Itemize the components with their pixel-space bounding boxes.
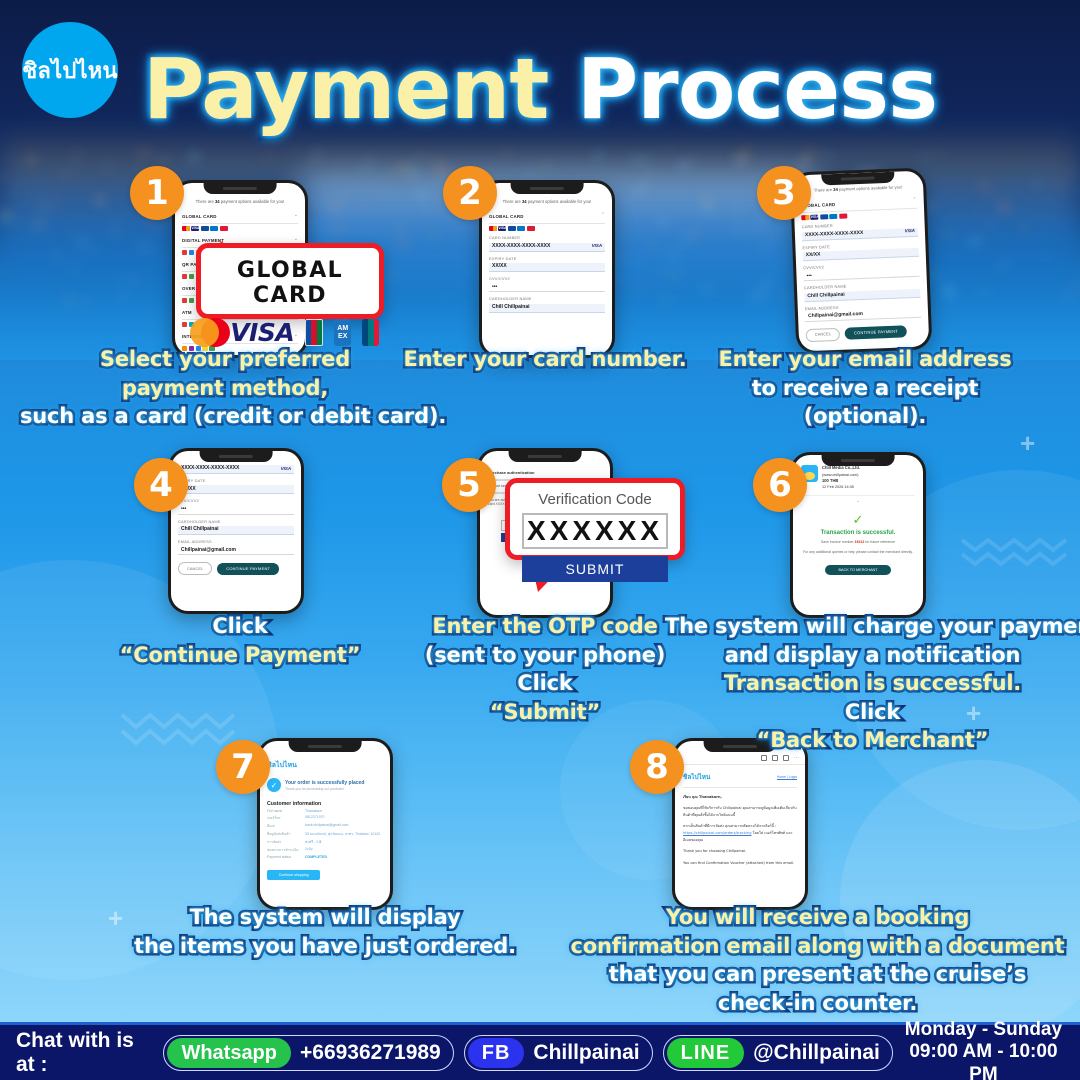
page-title: Payment Process	[0, 40, 1080, 138]
visa-badge-icon: VISA	[592, 243, 602, 250]
step-badge-7: 7	[216, 740, 270, 794]
success-note-help: For any additional queries or help pleas…	[801, 550, 915, 556]
email-paragraph-4: You can find Confirmation Voucher (attac…	[683, 860, 797, 867]
field-expiry-date[interactable]: EXPIRY DATE XX/XX	[802, 240, 919, 261]
step-badge-6: 6	[753, 458, 807, 512]
infographic-page: + + + ชิลไปไหน Payment Process There are…	[0, 0, 1080, 1080]
step-badge-4: 4	[134, 458, 188, 512]
back-to-merchant-button[interactable]: BACK TO MERCHANT	[825, 565, 891, 575]
field-cardholder-name[interactable]: CARDHOLDER NAME Chill Chillpainai	[804, 281, 921, 302]
callout-otp-input[interactable]: XXXXXX	[522, 513, 668, 549]
callout-otp: Verification Code XXXXXX SUBMIT	[505, 478, 685, 560]
step-caption-5-line3: Click “Submit”	[420, 669, 670, 726]
phone-notch	[511, 183, 584, 194]
decor-wave-right	[960, 530, 1070, 570]
card-form-step2: There are 34 payment options available f…	[482, 183, 612, 313]
chevron-up-icon: ⌃	[912, 197, 916, 205]
step-badge-5: 5	[442, 458, 496, 512]
customer-info-row: ช่องทางการชำระเงิน2c2p	[267, 847, 383, 853]
email-tracking-link[interactable]: https://chillpainai.com/orders/tracking	[683, 831, 752, 835]
step-caption-6-line4: Click “Back to Merchant”	[665, 698, 1080, 755]
field-card-number[interactable]: XXXX-XXXX-XXXX-XXXXVISA	[178, 465, 294, 474]
customer-info-row: การจัดส่งส่งฟรี - 0 ฿	[267, 839, 383, 845]
order-success-title: Your order is successfully placed	[285, 780, 364, 786]
phone-notch	[200, 451, 273, 462]
field-email-address[interactable]: EMAIL ADDRESS Chillpainai@gmail.com	[178, 539, 294, 555]
phone-step-8: ⋯ ชิลไปไหน Home | Login เรียน คุณ Thanak…	[672, 738, 808, 910]
success-check-icon: ✓	[801, 513, 915, 526]
title-word-payment: Payment	[143, 40, 549, 138]
whatsapp-number: +66936271989	[300, 1041, 441, 1065]
success-screen: Chill Media Co.,Ltd. (www.chillpainai.co…	[793, 455, 923, 575]
order-brand-logo: ชิลไปไหน	[267, 760, 383, 771]
card-form-section: GLOBAL CARD	[489, 214, 524, 221]
email-paragraph-1: ขอขอบคุณที่ใช้บริการกับ Chillpainai คุณส…	[683, 805, 797, 818]
phone-notch	[509, 451, 582, 462]
continue-payment-button[interactable]: CONTINUE PAYMENT	[845, 326, 907, 340]
amex-icon: AMEX	[334, 319, 351, 346]
whatsapp-label: Whatsapp	[167, 1038, 291, 1068]
payment-options-note: There are 34 payment options available f…	[182, 199, 298, 205]
step-caption-7: The system will display the items you ha…	[120, 903, 530, 960]
unionpay-icon	[362, 319, 379, 346]
transaction-datetime: 12 Feb 2026 14:35	[822, 485, 854, 489]
phone-step-7: ชิลไปไหน ✓ Your order is successfully pl…	[257, 738, 393, 910]
otp-line-1: Purchase authentication	[488, 470, 602, 475]
card-form-step3: There are 34 payment options available f…	[793, 171, 929, 343]
business-hours-time: 09:00 AM - 10:00 PM	[903, 1041, 1064, 1080]
brand-icons-global: VISA	[182, 226, 298, 231]
title-word-process: Process	[577, 40, 937, 138]
visa-icon: VISA	[230, 318, 294, 347]
customer-info-row: เบอร์โทร0812371970	[267, 815, 383, 821]
field-cvv[interactable]: CVV/CVV2 •••	[489, 276, 605, 292]
business-hours: Monday - Sunday 09:00 AM - 10:00 PM	[903, 1019, 1064, 1080]
facebook-handle: Chillpainai	[533, 1041, 639, 1065]
step-caption-5: Enter the OTP code (sent to your phone) …	[420, 612, 670, 726]
customer-info-heading: Customer information	[267, 801, 383, 807]
step-badge-1: 1	[130, 166, 184, 220]
customer-info-row: Full nameThanakarn	[267, 809, 383, 813]
footer-lead-text: Chat with is at :	[16, 1029, 153, 1077]
email-greeting: เรียน คุณ Thanakarn,	[683, 795, 722, 799]
field-cardholder-name[interactable]: CARDHOLDER NAME Chill Chillpainai	[489, 296, 605, 312]
business-hours-days: Monday - Sunday	[903, 1019, 1064, 1041]
merchant-site: (www.chillpainai.com)	[822, 473, 859, 477]
customer-info-row: Payment statusCOMPLETED	[267, 855, 383, 859]
email-screen: ⋯ ชิลไปไหน Home | Login เรียน คุณ Thanak…	[675, 752, 805, 879]
archive-icon[interactable]	[761, 755, 767, 761]
order-success-subtitle: Thank you for purchasing our products!	[285, 787, 364, 791]
invoice-number: 19212	[855, 540, 865, 544]
step-caption-4-line: Click “Continue Payment”	[50, 612, 430, 669]
facebook-contact[interactable]: FB Chillpainai	[464, 1035, 653, 1071]
delete-icon[interactable]	[772, 755, 778, 761]
phone-step-2: There are 34 payment options available f…	[479, 180, 615, 358]
field-cvv[interactable]: CVV/CVV2 •••	[178, 498, 294, 514]
cancel-button[interactable]: CANCEL	[178, 562, 212, 575]
cancel-button[interactable]: CANCEL	[806, 328, 841, 342]
phone-step-3: There are 34 payment options available f…	[790, 167, 933, 354]
field-cvv[interactable]: CVV/CVV2 •••	[803, 261, 920, 282]
mastercard-icon	[201, 318, 219, 347]
callout-title: GLOBAL CARD	[201, 258, 379, 308]
callout-verification-label: Verification Code	[510, 491, 680, 508]
step-caption-2: Enter your card number.	[395, 345, 695, 374]
step-badge-8: 8	[630, 740, 684, 794]
payment-options-count: 34	[215, 199, 220, 204]
decor-wave-left	[120, 705, 240, 749]
email-paragraph-2: หากเป็นสินค้าที่มีการจัดส่ง คุณสามารถติด…	[683, 823, 797, 843]
more-options-icon[interactable]: ⋯	[794, 755, 799, 761]
field-card-number[interactable]: CARD NUMBER XXXX-XXXX-XXXX-XXXXVISA	[802, 220, 919, 241]
email-paragraph-3: Thank you for choosing Chillpainai.	[683, 848, 797, 855]
decor-plus-3: +	[1020, 430, 1035, 456]
email-brand-logo: ชิลไปไหน	[683, 772, 710, 782]
field-expiry-date[interactable]: EXPIRY DATE XX/XX	[489, 256, 605, 272]
field-expiry-date[interactable]: EXPIRY DATE XX/XX	[178, 478, 294, 494]
callout-global-card: GLOBAL CARD VISA AMEX	[196, 243, 384, 319]
line-contact[interactable]: LINE @Chillpainai	[663, 1035, 893, 1071]
chevron-up-icon: ⌃	[601, 212, 605, 220]
field-card-number[interactable]: CARD NUMBER XXXX-XXXX-XXXX-XXXXVISA	[489, 235, 605, 251]
customer-info-row: อีเมลbank.chillpainai@gmail.com	[267, 823, 383, 829]
payment-category-global-card[interactable]: GLOBAL CARD⌄ VISA	[182, 210, 298, 231]
field-cardholder-name[interactable]: CARDHOLDER NAME Chill Chillpainai	[178, 519, 294, 535]
order-success-check-icon: ✓	[267, 778, 281, 792]
step-badge-2: 2	[443, 166, 497, 220]
facebook-label: FB	[468, 1038, 525, 1068]
step-caption-3: Enter your email address to receive a re…	[700, 345, 1030, 431]
step-caption-1: Select your preferred payment method, su…	[20, 345, 430, 431]
whatsapp-contact[interactable]: Whatsapp +66936271989	[163, 1035, 453, 1071]
email-header-links[interactable]: Home | Login	[777, 775, 797, 779]
step-caption-8: You will receive a booking confirmation …	[555, 903, 1080, 1017]
line-label: LINE	[667, 1038, 745, 1068]
line-handle: @Chillpainai	[753, 1041, 880, 1065]
step-caption-4: Click “Continue Payment”	[50, 612, 430, 669]
card-form-step4: XXXX-XXXX-XXXX-XXXXVISA EXPIRY DATE XX/X…	[171, 451, 301, 575]
success-note-invoice: Save invoice number 19212 for future ref…	[801, 540, 915, 546]
step-caption-6: The system will charge your payment and …	[665, 612, 1080, 755]
order-confirmation-screen: ชิลไปไหน ✓ Your order is successfully pl…	[260, 741, 390, 880]
success-title: Transaction is successful.	[801, 530, 915, 536]
callout-submit-button[interactable]: SUBMIT	[522, 556, 668, 582]
phone-step-6: Chill Media Co.,Ltd. (www.chillpainai.co…	[790, 452, 926, 618]
phone-step-4: XXXX-XXXX-XXXX-XXXXVISA EXPIRY DATE XX/X…	[168, 448, 304, 614]
jcb-icon	[305, 319, 323, 346]
callout-brand-logos: VISA AMEX	[201, 318, 379, 347]
step-badge-3: 3	[757, 166, 811, 220]
footer-contact-bar: Chat with is at : Whatsapp +66936271989 …	[0, 1022, 1080, 1080]
phone-notch	[822, 455, 895, 466]
field-email-address[interactable]: EMAIL ADDRESS Chillpainai@gmail.com	[805, 301, 922, 322]
transaction-amount: 100 THB	[822, 478, 838, 483]
continue-payment-button[interactable]: CONTINUE PAYMENT	[217, 563, 279, 575]
continue-shopping-button[interactable]: Continue shopping	[267, 870, 320, 880]
mail-icon[interactable]	[783, 755, 789, 761]
phone-notch	[204, 183, 277, 194]
chevron-down-icon[interactable]: ⌄	[801, 498, 915, 504]
phone-notch	[289, 741, 362, 752]
chevron-down-icon: ⌄	[294, 212, 298, 220]
customer-info-row: ที่อยู่จัดส่งสินค้า33 ถนนจันทน์, ทุ่งวัด…	[267, 831, 383, 837]
